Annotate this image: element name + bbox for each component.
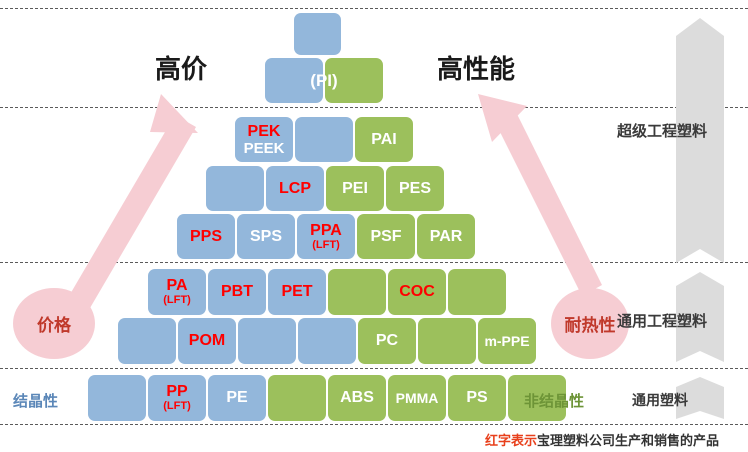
footnote-rest: 宝理塑料公司生产和销售的产品 — [537, 433, 719, 448]
tile-label: PSF — [370, 229, 401, 245]
caption-high-performance: 高性能 — [437, 49, 515, 86]
tile-row-lcp-0[interactable] — [206, 166, 264, 211]
footnote-highlight: 红字表示 — [485, 433, 537, 448]
tile-row-pa-0[interactable]: PA (LFT) — [148, 269, 206, 315]
tile-row-pa-1[interactable]: PBT — [208, 269, 266, 315]
tile-label: PPS — [190, 229, 222, 245]
banner-label-0: 超级工程塑料 — [617, 120, 707, 141]
tile-row-pps-3[interactable]: PSF — [357, 214, 415, 259]
tile-label: PPA — [310, 223, 342, 239]
divider-general-eng — [0, 262, 748, 263]
tile-row-pom-2[interactable] — [238, 318, 296, 364]
tile-row-pek-1[interactable] — [295, 117, 353, 162]
tile-row-pek-0[interactable]: PEK PEEK — [235, 117, 293, 162]
tile-label: PA — [166, 278, 187, 294]
tile-sublabel: (LFT) — [163, 401, 190, 412]
tile-row-pom-0[interactable] — [118, 318, 176, 364]
divider-commodity — [0, 368, 748, 369]
tile-row-pps-4[interactable]: PAR — [417, 214, 475, 259]
tile-row-pom-3[interactable] — [298, 318, 356, 364]
tile-row-pa-5[interactable] — [448, 269, 506, 315]
divider-top — [0, 8, 748, 9]
tile-row-pa-2[interactable]: PET — [268, 269, 326, 315]
tile-sublabel: (LFT) — [163, 295, 190, 306]
tile-label: POM — [189, 333, 225, 349]
axis-label-amorphous: 非结晶性 — [524, 390, 584, 411]
tile-label: PEI — [342, 181, 368, 197]
tile-row-pps-0[interactable]: PPS — [177, 214, 235, 259]
tile-row-pi-1[interactable] — [325, 58, 383, 103]
tile-row-commodity-3[interactable] — [268, 375, 326, 421]
tile-label: PAI — [371, 132, 396, 148]
tile-label: PAR — [430, 229, 463, 245]
caption-high-price: 高价 — [155, 49, 207, 86]
tile-label: PS — [466, 390, 487, 406]
tile-row-pps-2[interactable]: PPA (LFT) — [297, 214, 355, 259]
tile-label: PET — [281, 284, 312, 300]
banner-label-2: 通用塑料 — [632, 390, 688, 410]
tile-sublabel: (LFT) — [312, 240, 339, 251]
tile-row-lcp-2[interactable]: PEI — [326, 166, 384, 211]
bubble-price: 价格 — [13, 288, 95, 359]
tile-label: PES — [399, 181, 431, 197]
tile-row-pi-0[interactable] — [265, 58, 323, 103]
tile-row-commodity-4[interactable]: ABS — [328, 375, 386, 421]
tile-row-pek-2[interactable]: PAI — [355, 117, 413, 162]
tile-row-commodity-2[interactable]: PE — [208, 375, 266, 421]
tile-row-commodity-1[interactable]: PP (LFT) — [148, 375, 206, 421]
footnote: 红字表示宝理塑料公司生产和销售的产品 — [485, 430, 719, 449]
tile-row-commodity-5[interactable]: PMMA — [388, 375, 446, 421]
tile-label: COC — [399, 284, 435, 300]
tile-row-lcp-1[interactable]: LCP — [266, 166, 324, 211]
tile-label: PE — [226, 390, 247, 406]
tile-row-pa-4[interactable]: COC — [388, 269, 446, 315]
tile-label: PEK — [248, 124, 281, 140]
tile-row-pom-1[interactable]: POM — [178, 318, 236, 364]
banner-label-1: 通用工程塑料 — [617, 310, 707, 331]
tile-label: PC — [376, 333, 398, 349]
tile-sublabel: PEEK — [244, 141, 285, 156]
tile-row-pi-top-0[interactable] — [294, 13, 341, 55]
heat-arrow-icon — [478, 94, 602, 296]
tile-row-commodity-0[interactable] — [88, 375, 146, 421]
tile-row-commodity-6[interactable]: PS — [448, 375, 506, 421]
tile-row-pom-6[interactable]: m-PPE — [478, 318, 536, 364]
pyramid-diagram: 高价 高性能 价格 耐热性 超级工程塑料 通用工程塑料 通用塑料 (PI) PE… — [0, 0, 748, 452]
tile-label: m-PPE — [484, 334, 529, 348]
tile-row-pom-5[interactable] — [418, 318, 476, 364]
tile-label: PBT — [221, 284, 253, 300]
tile-label: SPS — [250, 229, 282, 245]
tile-row-pom-4[interactable]: PC — [358, 318, 416, 364]
tile-row-pa-3[interactable] — [328, 269, 386, 315]
tile-label: PP — [166, 384, 187, 400]
axis-label-crystalline: 结晶性 — [13, 390, 58, 411]
divider-bottom — [0, 424, 748, 425]
divider-super-eng — [0, 107, 748, 108]
tile-label: ABS — [340, 390, 374, 406]
tile-label: LCP — [279, 181, 311, 197]
tile-label: PMMA — [396, 391, 439, 405]
tile-row-lcp-3[interactable]: PES — [386, 166, 444, 211]
tile-row-pps-1[interactable]: SPS — [237, 214, 295, 259]
